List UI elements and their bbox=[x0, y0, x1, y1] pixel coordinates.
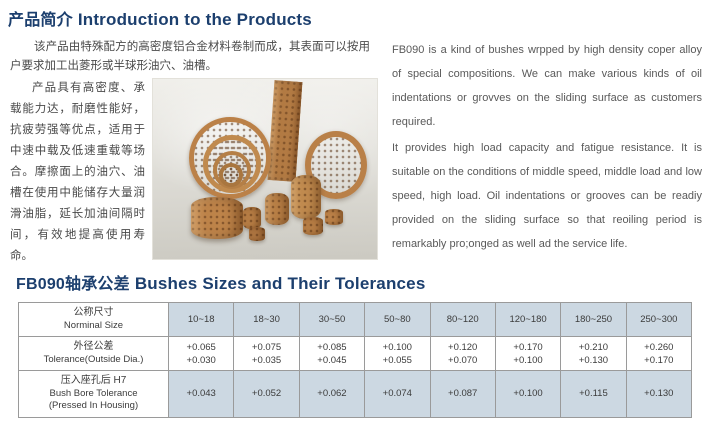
nominal-size-row-value-3: 30~50 bbox=[299, 303, 364, 337]
cell-value: +0.035 bbox=[236, 354, 296, 367]
tolerance-table: 公称尺寸Norminal Size10~1818~3030~5050~8080~… bbox=[18, 302, 692, 418]
bronze-bush-tall-right bbox=[291, 175, 321, 219]
row-label-cn: 公称尺寸 bbox=[23, 307, 164, 320]
section-heading-tolerances-en: Bushes Sizes and Their Tolerances bbox=[135, 274, 426, 293]
cell-value: +0.074 bbox=[367, 387, 427, 400]
tolerance-table-body: 公称尺寸Norminal Size10~1818~3030~5050~8080~… bbox=[19, 303, 692, 418]
outside-dia-tolerance-row-label: 外径公差Tolerance(Outside Dia.) bbox=[19, 337, 169, 371]
bronze-bush-small-2 bbox=[249, 227, 265, 241]
nominal-size-row-value-2: 18~30 bbox=[234, 303, 299, 337]
bush-bore-tolerance-row-value-5: +0.087 bbox=[430, 371, 495, 418]
cell-value: 50~80 bbox=[367, 313, 427, 326]
cell-value: +0.100 bbox=[367, 341, 427, 354]
intro-left-column: 该产品由特殊配方的高密度铝合金材料卷制而成，其表面可以按用户要求加工出菱形或半球… bbox=[10, 38, 370, 81]
cell-value: +0.130 bbox=[563, 354, 623, 367]
nominal-size-row-value-5: 80~120 bbox=[430, 303, 495, 337]
cell-value: +0.100 bbox=[498, 354, 558, 367]
cell-value: +0.260 bbox=[629, 341, 689, 354]
intro-right-column: FB090 is a kind of bushes wrpped by high… bbox=[392, 38, 702, 256]
intro-paragraph-cn-2: 产品具有高密度、承载能力达，耐磨性能好，抗疲劳强等优点，适用于中速中载及低速重载… bbox=[10, 78, 145, 267]
cell-value: +0.070 bbox=[433, 354, 493, 367]
section-heading-introduction-cn: 产品简介 bbox=[8, 12, 73, 29]
bronze-bush-small-1 bbox=[243, 207, 261, 229]
bush-bore-tolerance-row-value-2: +0.052 bbox=[234, 371, 299, 418]
outside-dia-tolerance-row-value-6: +0.170+0.100 bbox=[495, 337, 560, 371]
bronze-bush-small-3 bbox=[303, 217, 323, 235]
intro-paragraph-cn-1: 该产品由特殊配方的高密度铝合金材料卷制而成，其表面可以按用户要求加工出菱形或半球… bbox=[10, 38, 370, 75]
nominal-size-row-value-1: 10~18 bbox=[169, 303, 234, 337]
nominal-size-row: 公称尺寸Norminal Size10~1818~3030~5050~8080~… bbox=[19, 303, 692, 337]
nominal-size-row-value-7: 180~250 bbox=[561, 303, 626, 337]
section-heading-introduction-en: Introduction to the Products bbox=[78, 10, 312, 29]
cell-value: +0.055 bbox=[367, 354, 427, 367]
bush-bore-tolerance-row-value-1: +0.043 bbox=[169, 371, 234, 418]
bush-bore-tolerance-row-value-8: +0.130 bbox=[626, 371, 691, 418]
outside-dia-tolerance-row: 外径公差Tolerance(Outside Dia.)+0.065+0.030+… bbox=[19, 337, 692, 371]
cell-value: +0.062 bbox=[302, 387, 362, 400]
cell-value: +0.065 bbox=[171, 341, 231, 354]
cell-value: +0.170 bbox=[629, 354, 689, 367]
bush-bore-tolerance-row-value-4: +0.074 bbox=[365, 371, 430, 418]
section-heading-tolerances: FB090轴承公差Bushes Sizes and Their Toleranc… bbox=[16, 270, 426, 294]
outside-dia-tolerance-row-value-1: +0.065+0.030 bbox=[169, 337, 234, 371]
nominal-size-row-value-6: 120~180 bbox=[495, 303, 560, 337]
bush-bore-tolerance-row-label: 压入座孔后 H7Bush Bore Tolerance(Pressed In H… bbox=[19, 371, 169, 418]
outside-dia-tolerance-row-value-2: +0.075+0.035 bbox=[234, 337, 299, 371]
nominal-size-row-value-4: 50~80 bbox=[365, 303, 430, 337]
cell-value: +0.100 bbox=[498, 387, 558, 400]
row-label-en: Bush Bore Tolerance bbox=[23, 388, 164, 401]
cell-value: 10~18 bbox=[171, 313, 231, 326]
nominal-size-row-label: 公称尺寸Norminal Size bbox=[19, 303, 169, 337]
cell-value: 120~180 bbox=[498, 313, 558, 326]
intro-paragraph-en-1: FB090 is a kind of bushes wrpped by high… bbox=[392, 38, 702, 134]
outside-dia-tolerance-row-value-8: +0.260+0.170 bbox=[626, 337, 691, 371]
section-heading-introduction: 产品简介Introduction to the Products bbox=[8, 6, 312, 30]
cell-value: +0.115 bbox=[563, 387, 623, 400]
bronze-ring-xsmall bbox=[219, 163, 243, 187]
bush-bore-tolerance-row-value-6: +0.100 bbox=[495, 371, 560, 418]
bush-bore-tolerance-row: 压入座孔后 H7Bush Bore Tolerance(Pressed In H… bbox=[19, 371, 692, 418]
row-label-en: Norminal Size bbox=[23, 320, 164, 333]
cell-value: +0.170 bbox=[498, 341, 558, 354]
cell-value: +0.210 bbox=[563, 341, 623, 354]
row-label-en: (Pressed In Housing) bbox=[23, 400, 164, 413]
cell-value: +0.052 bbox=[236, 387, 296, 400]
row-label-cn: 外径公差 bbox=[23, 341, 164, 354]
bush-bore-tolerance-row-value-3: +0.062 bbox=[299, 371, 364, 418]
outside-dia-tolerance-row-value-4: +0.100+0.055 bbox=[365, 337, 430, 371]
cell-value: 250~300 bbox=[629, 313, 689, 326]
cell-value: +0.045 bbox=[302, 354, 362, 367]
cell-value: +0.087 bbox=[433, 387, 493, 400]
bush-bore-tolerance-row-value-7: +0.115 bbox=[561, 371, 626, 418]
row-label-cn: 压入座孔后 H7 bbox=[23, 375, 164, 388]
nominal-size-row-value-8: 250~300 bbox=[626, 303, 691, 337]
cell-value: +0.120 bbox=[433, 341, 493, 354]
cell-value: 18~30 bbox=[236, 313, 296, 326]
outside-dia-tolerance-row-value-5: +0.120+0.070 bbox=[430, 337, 495, 371]
product-datasheet-page: 产品简介Introduction to the Products 该产品由特殊配… bbox=[0, 0, 712, 428]
cell-value: +0.085 bbox=[302, 341, 362, 354]
cell-value: +0.043 bbox=[171, 387, 231, 400]
cell-value: +0.130 bbox=[629, 387, 689, 400]
cell-value: 30~50 bbox=[302, 313, 362, 326]
cell-value: 80~120 bbox=[433, 313, 493, 326]
bronze-bush-small-4 bbox=[325, 209, 343, 225]
outside-dia-tolerance-row-value-3: +0.085+0.045 bbox=[299, 337, 364, 371]
cell-value: +0.030 bbox=[171, 354, 231, 367]
product-photo bbox=[152, 78, 378, 260]
cell-value: 180~250 bbox=[563, 313, 623, 326]
cell-value: +0.075 bbox=[236, 341, 296, 354]
bronze-bush-tall-mid bbox=[265, 193, 289, 225]
outside-dia-tolerance-row-value-7: +0.210+0.130 bbox=[561, 337, 626, 371]
section-heading-tolerances-cn: FB090轴承公差 bbox=[16, 276, 130, 293]
row-label-en: Tolerance(Outside Dia.) bbox=[23, 354, 164, 367]
intro-paragraph-en-2: It provides high load capacity and fatig… bbox=[392, 136, 702, 256]
bronze-bush-large bbox=[191, 197, 243, 239]
